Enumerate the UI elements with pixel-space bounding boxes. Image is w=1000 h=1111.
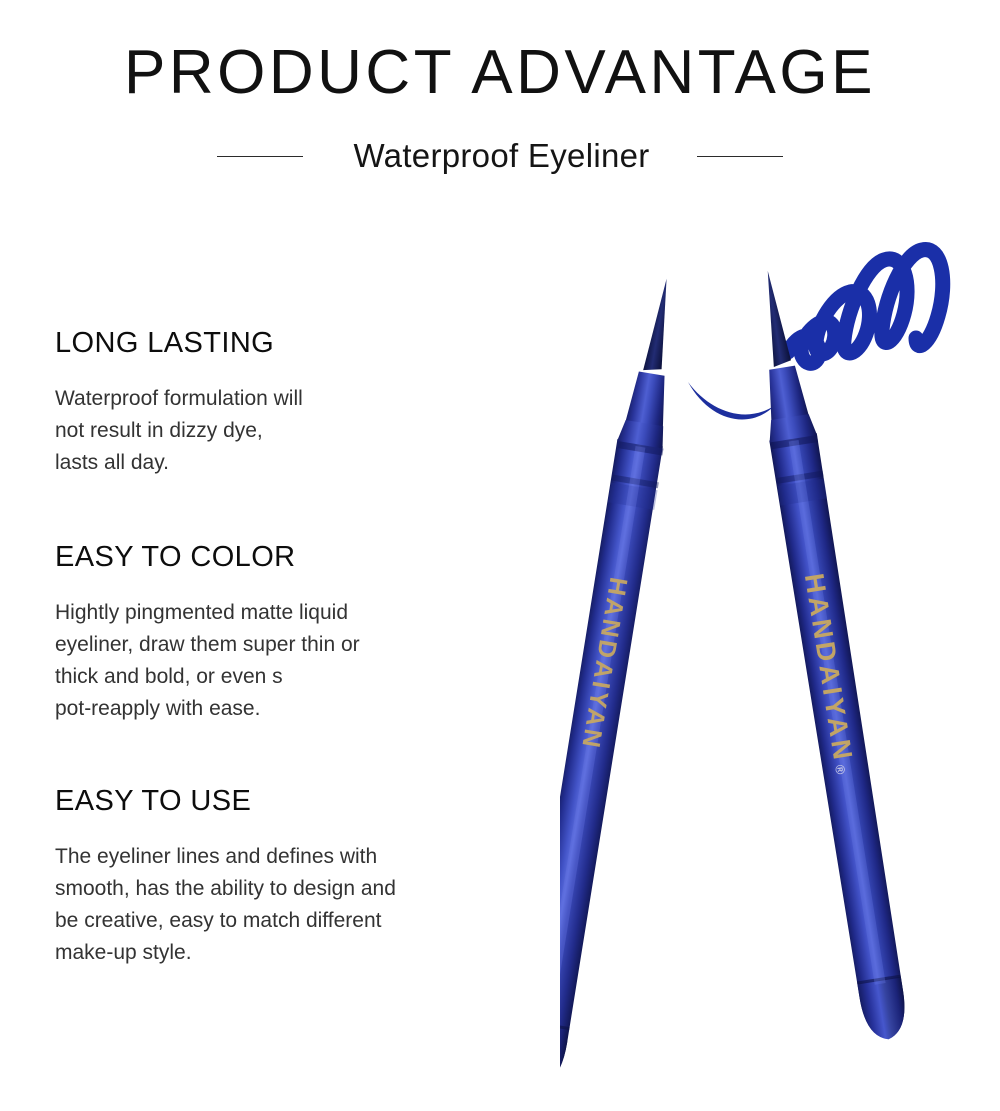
eyeliner-pen-left: HANDAIYAN (560, 275, 694, 1090)
ink-swoosh-stroke (688, 382, 774, 420)
page-title: PRODUCT ADVANTAGE (0, 38, 1000, 108)
eyeliner-pen-right: HANDAIYAN ® (743, 267, 912, 1043)
subtitle-row: Waterproof Eyeliner (0, 131, 1000, 181)
page-subtitle: Waterproof Eyeliner (353, 136, 649, 176)
feature-title: EASY TO USE (55, 783, 525, 819)
feature-body: Hightly pingmented matte liquid eyeliner… (55, 597, 525, 725)
ink-squiggle-swatch (788, 250, 943, 364)
divider-line-right (697, 156, 783, 157)
feature-list: LONG LASTING Waterproof formulation will… (55, 325, 525, 969)
feature-title: LONG LASTING (55, 325, 525, 361)
feature-body: The eyeliner lines and defines with smoo… (55, 841, 525, 969)
feature-body: Waterproof formulation will not result i… (55, 383, 525, 479)
feature-easy-to-color: EASY TO COLOR Hightly pingmented matte l… (55, 539, 525, 725)
feature-easy-to-use: EASY TO USE The eyeliner lines and defin… (55, 783, 525, 969)
divider-line-left (217, 156, 303, 157)
page-header: PRODUCT ADVANTAGE Waterproof Eyeliner (0, 0, 1000, 200)
feature-long-lasting: LONG LASTING Waterproof formulation will… (55, 325, 525, 479)
feature-title: EASY TO COLOR (55, 539, 525, 575)
product-image: HANDAIYAN HANDAIYAN ® (560, 230, 1000, 1100)
